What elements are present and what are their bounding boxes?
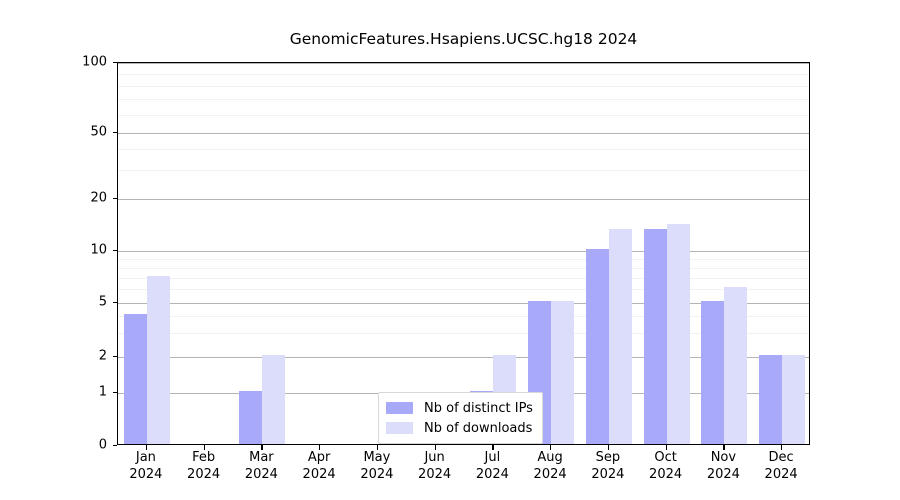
y-tick-mark: [113, 302, 117, 303]
x-tick-label-jul: Jul2024: [476, 449, 509, 483]
x-tick-label-apr: Apr2024: [303, 449, 336, 483]
gridline: [118, 74, 809, 75]
x-tick-label-oct: Oct2024: [649, 449, 682, 483]
x-tick-label-jan: Jan2024: [129, 449, 162, 483]
plot-area: [117, 62, 810, 445]
x-tick-month: Jul: [476, 449, 509, 466]
x-tick-year: 2024: [534, 466, 567, 483]
gridline: [118, 199, 809, 200]
x-axis: Jan2024Feb2024Mar2024Apr2024May2024Jun20…: [117, 449, 810, 495]
y-tick-label: 0: [99, 438, 107, 453]
x-tick-year: 2024: [360, 466, 393, 483]
bar-sep-distinct-ips: [586, 249, 609, 444]
x-tick-month: Oct: [649, 449, 682, 466]
y-tick-label: 20: [90, 191, 107, 206]
bar-dec-downloads: [782, 355, 805, 444]
bar-nov-distinct-ips: [701, 301, 724, 444]
x-tick-mark: [319, 445, 320, 450]
x-tick-label-dec: Dec2024: [765, 449, 798, 483]
y-tick-label: 100: [82, 55, 107, 70]
x-tick-mark: [666, 445, 667, 450]
bar-dec-distinct-ips: [759, 355, 782, 444]
bar-oct-downloads: [667, 224, 690, 444]
legend-item-downloads: Nb of downloads: [386, 418, 533, 438]
x-tick-mark: [146, 445, 147, 450]
legend-label: Nb of distinct IPs: [424, 401, 533, 416]
y-tick-mark: [113, 250, 117, 251]
x-tick-month: Jun: [418, 449, 451, 466]
x-tick-mark: [435, 445, 436, 450]
x-tick-mark: [204, 445, 205, 450]
y-tick-label: 10: [90, 243, 107, 258]
x-tick-label-aug: Aug2024: [534, 449, 567, 483]
x-tick-month: Jan: [129, 449, 162, 466]
x-tick-label-may: May2024: [360, 449, 393, 483]
legend-item-distinct-ips: Nb of distinct IPs: [386, 398, 533, 418]
x-tick-label-feb: Feb2024: [187, 449, 220, 483]
x-tick-year: 2024: [187, 466, 220, 483]
x-tick-year: 2024: [649, 466, 682, 483]
x-tick-mark: [550, 445, 551, 450]
y-tick-mark: [113, 356, 117, 357]
chart-title: GenomicFeatures.Hsapiens.UCSC.hg18 2024: [117, 30, 810, 48]
gridline: [118, 259, 809, 260]
gridline: [118, 115, 809, 116]
x-tick-year: 2024: [245, 466, 278, 483]
bar-jan-distinct-ips: [124, 314, 147, 444]
x-tick-year: 2024: [765, 466, 798, 483]
gridline: [118, 133, 809, 134]
y-axis: 0125102050100: [55, 62, 107, 445]
x-tick-year: 2024: [303, 466, 336, 483]
y-tick-label: 1: [99, 385, 107, 400]
chart-figure: GenomicFeatures.Hsapiens.UCSC.hg18 2024 …: [0, 0, 900, 500]
x-tick-mark: [377, 445, 378, 450]
x-tick-mark: [723, 445, 724, 450]
y-tick-mark: [113, 132, 117, 133]
chart-legend: Nb of distinct IPsNb of downloads: [378, 392, 543, 444]
gridline: [118, 86, 809, 87]
legend-label: Nb of downloads: [424, 421, 532, 436]
x-tick-mark: [261, 445, 262, 450]
x-tick-year: 2024: [591, 466, 624, 483]
gridline: [118, 289, 809, 290]
x-tick-mark: [492, 445, 493, 450]
gridline: [118, 99, 809, 100]
y-tick-mark: [113, 445, 117, 446]
x-tick-month: Sep: [591, 449, 624, 466]
legend-swatch: [386, 422, 413, 434]
bar-jan-downloads: [147, 276, 170, 444]
bar-sep-downloads: [609, 229, 632, 444]
bar-mar-downloads: [262, 355, 285, 444]
legend-swatch: [386, 402, 413, 414]
x-tick-month: Nov: [707, 449, 740, 466]
x-tick-month: Dec: [765, 449, 798, 466]
gridline: [118, 170, 809, 171]
y-tick-label: 5: [99, 295, 107, 310]
x-tick-label-mar: Mar2024: [245, 449, 278, 483]
y-tick-mark: [113, 62, 117, 63]
bar-oct-distinct-ips: [644, 229, 667, 444]
x-tick-year: 2024: [476, 466, 509, 483]
x-tick-year: 2024: [707, 466, 740, 483]
bar-mar-distinct-ips: [239, 391, 262, 444]
x-tick-month: Aug: [534, 449, 567, 466]
x-tick-label-nov: Nov2024: [707, 449, 740, 483]
y-tick-label: 2: [99, 349, 107, 364]
x-tick-year: 2024: [418, 466, 451, 483]
gridline: [118, 63, 809, 64]
gridline: [118, 149, 809, 150]
y-tick-label: 50: [90, 125, 107, 140]
x-tick-label-jun: Jun2024: [418, 449, 451, 483]
gridline: [118, 268, 809, 269]
x-tick-mark: [781, 445, 782, 450]
x-tick-mark: [608, 445, 609, 450]
bar-aug-downloads: [551, 301, 574, 444]
x-tick-month: Mar: [245, 449, 278, 466]
bar-nov-downloads: [724, 287, 747, 444]
y-tick-mark: [113, 392, 117, 393]
gridline: [118, 278, 809, 279]
y-tick-mark: [113, 198, 117, 199]
x-tick-year: 2024: [129, 466, 162, 483]
x-tick-month: Feb: [187, 449, 220, 466]
gridline: [118, 251, 809, 252]
x-tick-month: May: [360, 449, 393, 466]
x-tick-label-sep: Sep2024: [591, 449, 624, 483]
x-tick-month: Apr: [303, 449, 336, 466]
